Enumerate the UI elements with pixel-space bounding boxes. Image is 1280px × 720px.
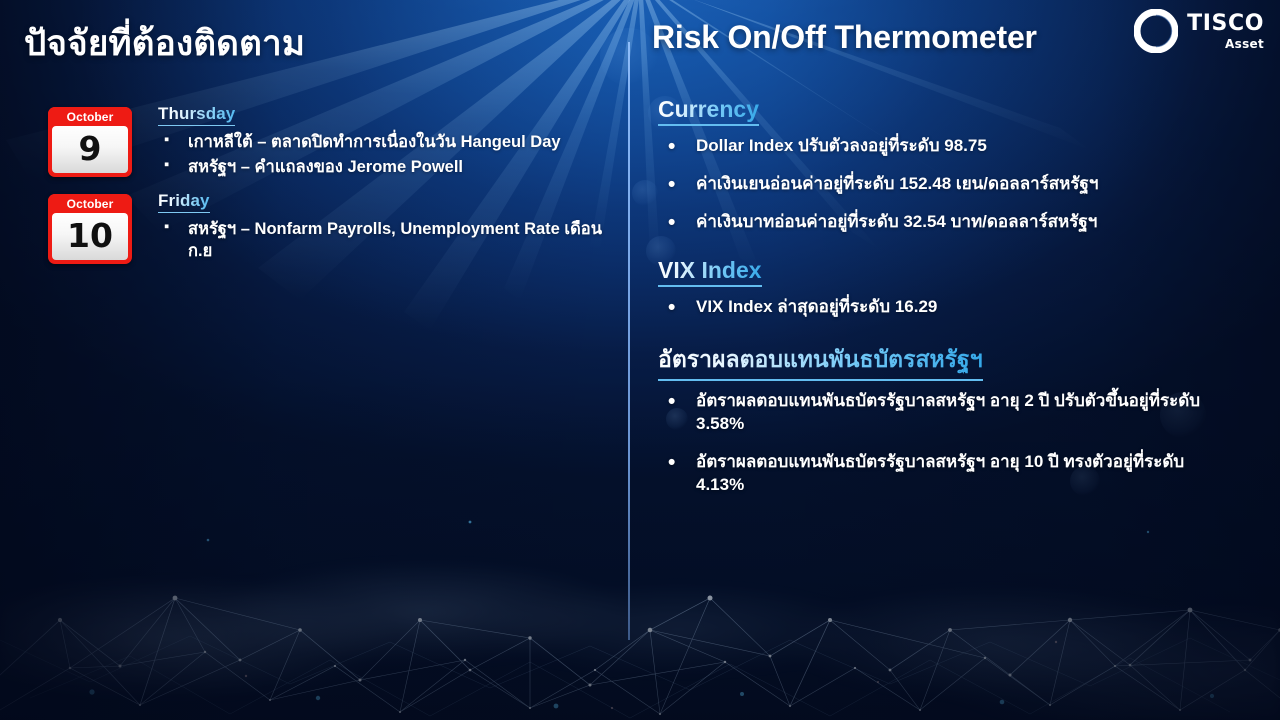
list-item: สหรัฐฯ – Nonfarm Payrolls, Unemployment … bbox=[158, 218, 610, 264]
section-heading-bond-yields: อัตราผลตอบแทนพันธบัตรสหรัฐฯ bbox=[658, 342, 983, 381]
section-heading-currency: Currency bbox=[658, 96, 759, 126]
calendar-events-list: October 9 Thursday เกาหลีใต้ – ตลาดปิดทำ… bbox=[0, 104, 628, 276]
event-list-thursday: เกาหลีใต้ – ตลาดปิดทำการเนื่องในวัน Hang… bbox=[158, 131, 561, 179]
mist-decoration bbox=[0, 505, 1280, 720]
section-heading-vix: VIX Index bbox=[658, 257, 762, 287]
logo-asset-text: Asset bbox=[1225, 38, 1264, 50]
tisco-ring-icon bbox=[1134, 9, 1178, 53]
calendar-icon-oct-9: October 9 bbox=[48, 107, 132, 177]
day-content: Friday สหรัฐฯ – Nonfarm Payrolls, Unempl… bbox=[158, 191, 610, 264]
panel-divider bbox=[628, 42, 630, 640]
event-list-friday: สหรัฐฯ – Nonfarm Payrolls, Unemployment … bbox=[158, 218, 610, 264]
section-vix: VIX Index VIX Index ล่าสุดอยู่ที่ระดับ 1… bbox=[658, 249, 1258, 319]
day-block: October 9 Thursday เกาหลีใต้ – ตลาดปิดทำ… bbox=[0, 104, 628, 179]
calendar-day: 10 bbox=[52, 213, 128, 260]
right-panel-title: Risk On/Off Thermometer bbox=[652, 19, 1037, 56]
risk-thermometer-sections: Currency Dollar Index ปรับตัวลงอยู่ที่ระ… bbox=[658, 96, 1258, 512]
list-item: ค่าเงินเยนอ่อนค่าอยู่ที่ระดับ 152.48 เยน… bbox=[658, 173, 1258, 196]
list-item: Dollar Index ปรับตัวลงอยู่ที่ระดับ 98.75 bbox=[658, 135, 1258, 158]
list-item: ค่าเงินบาทอ่อนค่าอยู่ที่ระดับ 32.54 บาท/… bbox=[658, 211, 1258, 234]
calendar-icon-oct-10: October 10 bbox=[48, 194, 132, 264]
weekday-heading-friday: Friday bbox=[158, 191, 210, 213]
section-bond-yields: อัตราผลตอบแทนพันธบัตรสหรัฐฯ อัตราผลตอบแท… bbox=[658, 334, 1258, 497]
day-block: October 10 Friday สหรัฐฯ – Nonfarm Payro… bbox=[0, 191, 628, 264]
calendar-month: October bbox=[48, 107, 132, 126]
section-currency: Currency Dollar Index ปรับตัวลงอยู่ที่ระ… bbox=[658, 96, 1258, 234]
left-panel-title: ปัจจัยที่ต้องติดตาม bbox=[24, 16, 305, 71]
calendar-day: 9 bbox=[52, 126, 128, 173]
bokeh-circle bbox=[632, 180, 658, 206]
weekday-heading-thursday: Thursday bbox=[158, 104, 235, 126]
logo-tisco-text: TISCO bbox=[1187, 13, 1264, 35]
list-item: เกาหลีใต้ – ตลาดปิดทำการเนื่องในวัน Hang… bbox=[158, 131, 561, 154]
list-item: สหรัฐฯ – คำแถลงของ Jerome Powell bbox=[158, 156, 561, 179]
logo-wordmark: TISCO Asset bbox=[1187, 13, 1264, 50]
fact-list-vix: VIX Index ล่าสุดอยู่ที่ระดับ 16.29 bbox=[658, 296, 1258, 319]
tisco-asset-logo: TISCO Asset bbox=[1134, 9, 1264, 53]
list-item: VIX Index ล่าสุดอยู่ที่ระดับ 16.29 bbox=[658, 296, 1258, 319]
list-item: อัตราผลตอบแทนพันธบัตรรัฐบาลสหรัฐฯ อายุ 2… bbox=[658, 390, 1216, 436]
day-content: Thursday เกาหลีใต้ – ตลาดปิดทำการเนื่องใ… bbox=[158, 104, 561, 179]
list-item: อัตราผลตอบแทนพันธบัตรรัฐบาลสหรัฐฯ อายุ 1… bbox=[658, 451, 1216, 497]
fact-list-bond-yields: อัตราผลตอบแทนพันธบัตรรัฐบาลสหรัฐฯ อายุ 2… bbox=[658, 390, 1258, 497]
slide-canvas: ปัจจัยที่ต้องติดตาม Risk On/Off Thermome… bbox=[0, 0, 1280, 720]
calendar-month: October bbox=[48, 194, 132, 213]
fact-list-currency: Dollar Index ปรับตัวลงอยู่ที่ระดับ 98.75… bbox=[658, 135, 1258, 234]
